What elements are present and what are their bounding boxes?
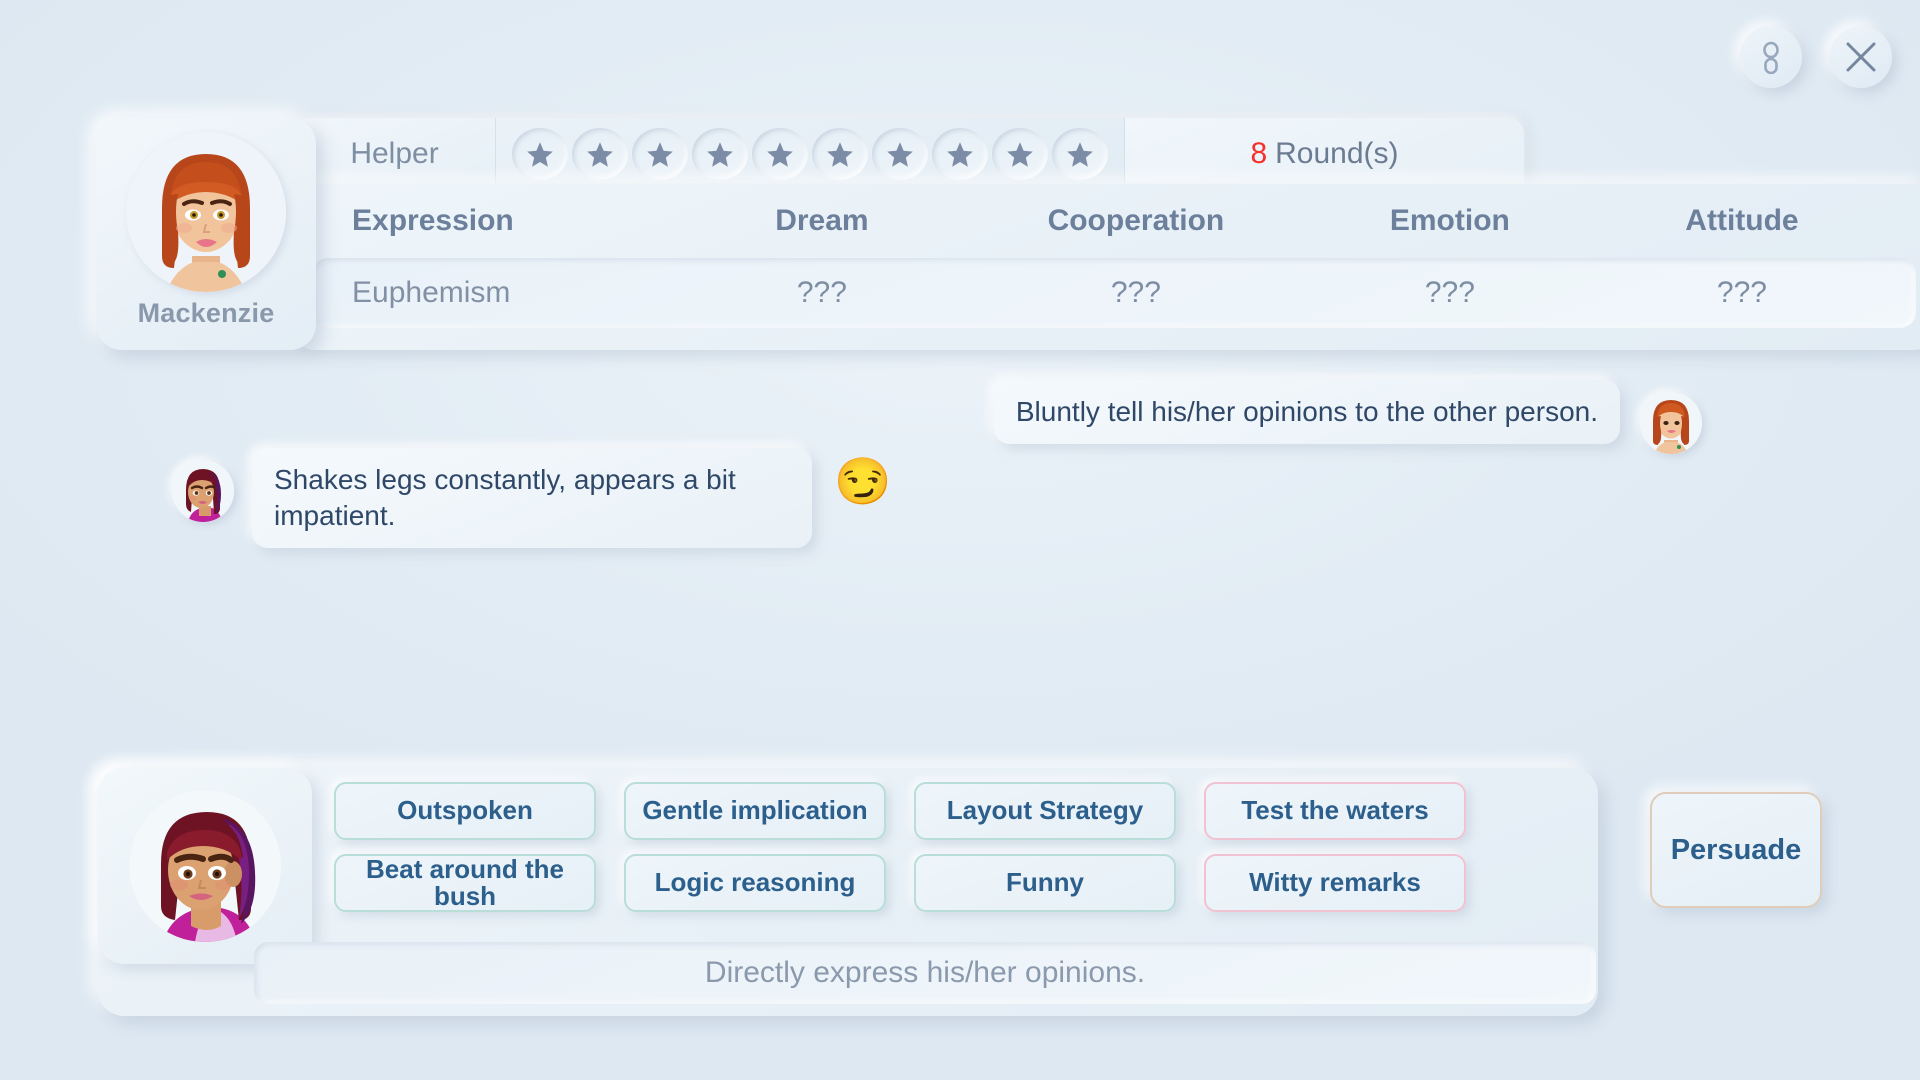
chat-message-right: Bluntly tell his/her opinions to the oth… [994,380,1702,454]
attr-col-emotion: Emotion [1304,204,1596,238]
attributes-panel: Expression Dream Cooperation Emotion Att… [294,184,1920,350]
attr-val-dream: ??? [676,276,968,310]
game-screen: Mackenzie Helper 8 Round(s) Expression D… [0,0,1920,1080]
skill-button[interactable]: Test the waters [1204,782,1466,840]
character-name: Mackenzie [138,298,275,329]
star-icon[interactable] [872,128,928,180]
skill-button[interactable]: Gentle implication [624,782,886,840]
header-tabs: Helper 8 Round(s) [294,118,1524,190]
attr-val-emotion: ??? [1304,276,1596,310]
attr-col-attitude: Attitude [1596,204,1888,238]
tab-helper[interactable]: Helper [294,118,496,190]
player-avatar-small [172,460,234,522]
chat-bubble-text: Shakes legs constantly, appears a bit im… [252,448,812,548]
rounds-label: Round(s) [1275,137,1398,171]
smirking-face-icon: 😏 [834,458,891,504]
chat-bubble-text: Bluntly tell his/her opinions to the oth… [994,380,1620,444]
attr-val-attitude: ??? [1596,276,1888,310]
skill-button[interactable]: Beat around the bush [334,854,596,912]
skill-grid: OutspokenGentle implicationLayout Strate… [334,782,1466,912]
character-card[interactable]: Mackenzie [96,118,316,350]
star-icon[interactable] [572,128,628,180]
player-card[interactable] [98,768,312,964]
star-rating[interactable] [496,118,1125,190]
rounds-number: 8 [1250,137,1267,171]
rounds-counter: 8 Round(s) [1125,118,1524,190]
attr-col-cooperation: Cooperation [968,204,1304,238]
mackenzie-avatar-small [1640,392,1702,454]
chat-message-left: Shakes legs constantly, appears a bit im… [172,448,891,548]
skill-button[interactable]: Logic reasoning [624,854,886,912]
star-icon[interactable] [632,128,688,180]
star-icon[interactable] [992,128,1048,180]
star-icon[interactable] [692,128,748,180]
skill-button[interactable]: Funny [914,854,1176,912]
character-header: Mackenzie Helper 8 Round(s) Expression D… [96,118,1836,350]
attr-col-expression: Expression [340,204,676,238]
attr-val-cooperation: ??? [968,276,1304,310]
attr-val-expression: Euphemism [340,276,676,310]
star-icon[interactable] [512,128,568,180]
person-info-icon[interactable] [1740,26,1802,88]
hint-bar: Directly express his/her opinions. [254,942,1596,1004]
skill-button[interactable]: Witty remarks [1204,854,1466,912]
player-avatar [129,790,281,942]
star-icon[interactable] [1052,128,1108,180]
window-controls [1740,26,1892,88]
mackenzie-avatar [126,132,286,292]
attributes-header-row: Expression Dream Cooperation Emotion Att… [312,184,1916,258]
star-icon[interactable] [812,128,868,180]
star-icon[interactable] [752,128,808,180]
close-icon[interactable] [1830,26,1892,88]
attr-col-dream: Dream [676,204,968,238]
persuade-button[interactable]: Persuade [1650,792,1822,908]
star-icon[interactable] [932,128,988,180]
dialogue-log: Bluntly tell his/her opinions to the oth… [0,370,1920,750]
skill-button[interactable]: Outspoken [334,782,596,840]
attributes-value-row: Euphemism ??? ??? ??? ??? [312,258,1916,328]
skill-button[interactable]: Layout Strategy [914,782,1176,840]
